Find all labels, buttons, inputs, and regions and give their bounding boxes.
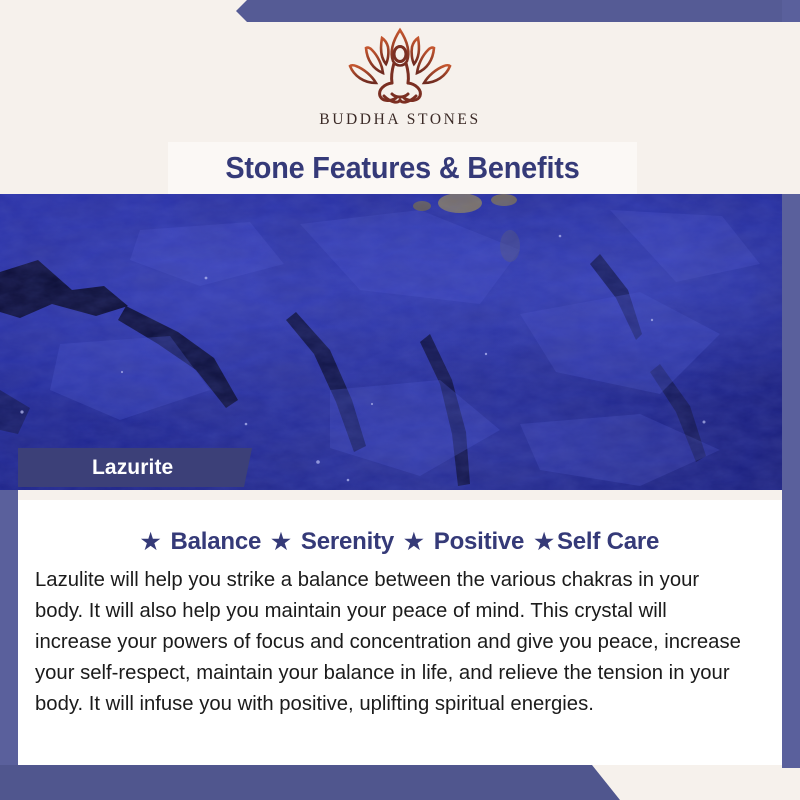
poster-canvas: BUDDHA STONES Stone Features & Benefits [0, 0, 800, 800]
brand-logo: BUDDHA STONES [0, 22, 800, 129]
stone-name-banner: Lazurite [18, 448, 252, 487]
panel-top-strip [18, 490, 782, 500]
content-panel: ★Balance★Serenity★Positive★Self Care Laz… [18, 490, 782, 765]
stone-name: Lazurite [18, 456, 173, 480]
decor-corner-notch-top-right [782, 22, 800, 36]
lotus-meditation-icon [340, 22, 460, 108]
stone-photo-render [0, 194, 782, 490]
star-icon: ★ [271, 529, 291, 554]
stone-photo [0, 194, 782, 490]
description-text: Lazulite will help you strike a balance … [35, 564, 748, 719]
keyword-serenity: Serenity [301, 528, 394, 555]
page-title-plaque: Stone Features & Benefits [168, 142, 637, 194]
brand-name: BUDDHA STONES [0, 111, 800, 129]
keyword-list: ★Balance★Serenity★Positive★Self Care [18, 528, 782, 556]
star-icon: ★ [534, 529, 554, 554]
star-icon: ★ [404, 529, 424, 554]
decor-band-left [0, 487, 18, 800]
keyword-positive: Positive [434, 528, 524, 555]
decor-band-top [225, 0, 800, 22]
keyword-balance: Balance [171, 528, 262, 555]
decor-band-bottom [0, 765, 620, 800]
star-icon: ★ [141, 529, 161, 554]
page-title: Stone Features & Benefits [225, 150, 579, 186]
keyword-self-care: Self Care [557, 528, 659, 555]
